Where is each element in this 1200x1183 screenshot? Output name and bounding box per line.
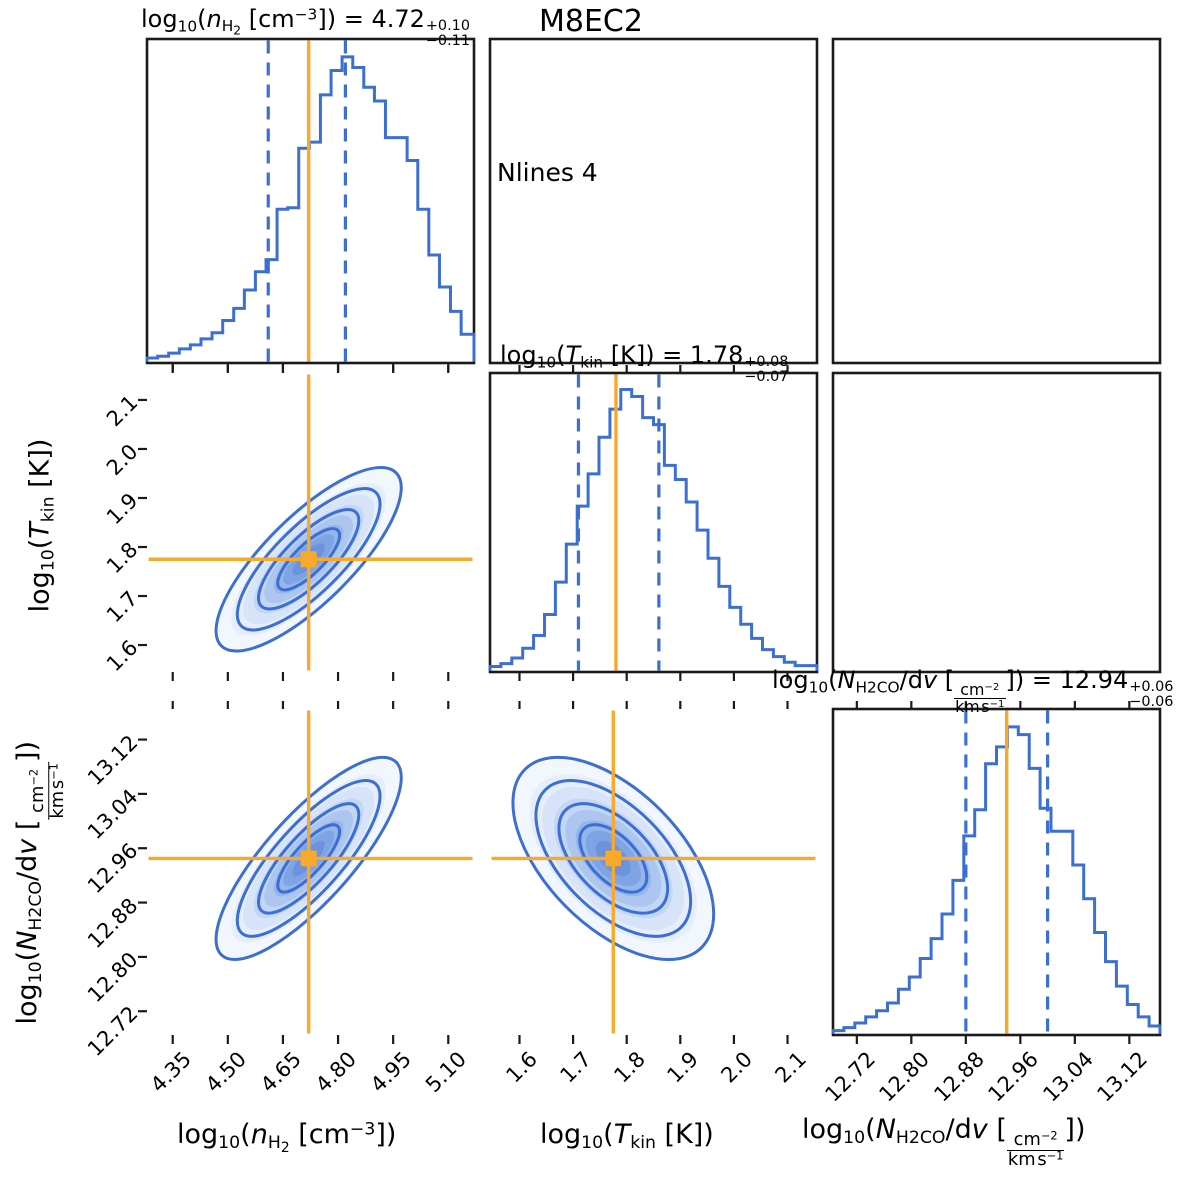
nH2-upper-err: +0.10 xyxy=(426,19,470,34)
panel-title-NH2CO: log10(NH2CO/dv [cm−2km s−1]) = 12.94+0.0… xyxy=(772,666,1173,716)
Tkin-median-value: 1.78 xyxy=(690,341,743,369)
NH2CO-lower-err: −0.06 xyxy=(1129,695,1173,710)
NH2CO-median-value: 12.94 xyxy=(1060,666,1129,694)
figure-title: M8EC2 xyxy=(539,4,643,39)
nH2-median-value: 4.72 xyxy=(371,5,424,33)
Tkin-upper-err: +0.08 xyxy=(744,355,788,370)
NH2CO-upper-err: +0.06 xyxy=(1129,680,1173,695)
corner-plot-figure xyxy=(0,0,1200,1183)
panel-title-Tkin: log10(Tkin [K]) = 1.78+0.08−0.07 xyxy=(500,341,788,386)
panel-title-nH2: log10(nH2 [cm−3]) = 4.72+0.10−0.11 xyxy=(141,5,470,50)
nlines-annotation: Nlines 4 xyxy=(497,158,598,187)
Tkin-lower-err: −0.07 xyxy=(744,370,788,385)
nH2-lower-err: −0.11 xyxy=(426,34,470,49)
